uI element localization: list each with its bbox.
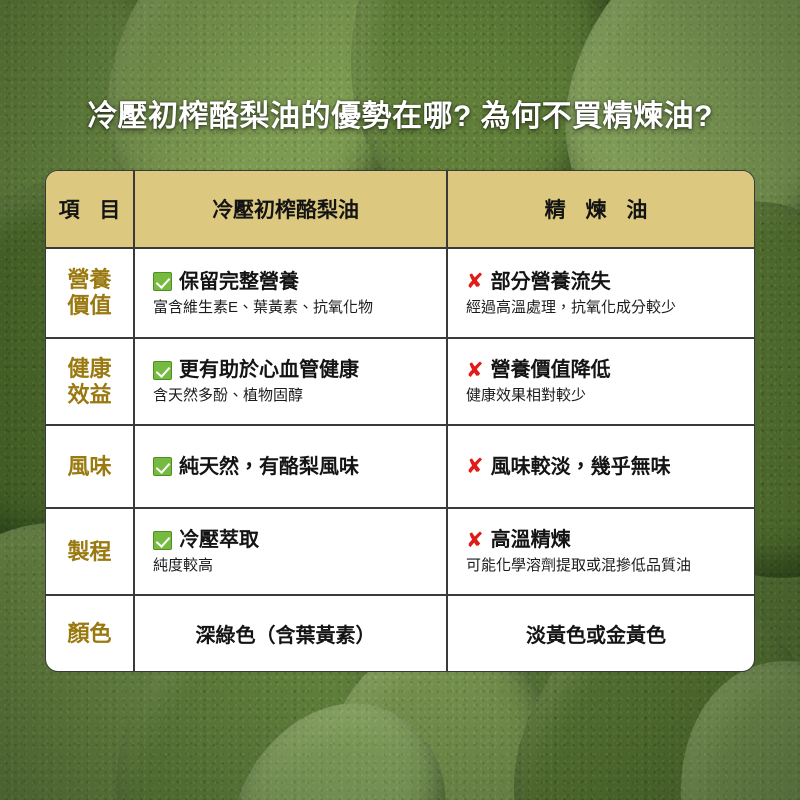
refined-cell: ✘ 部分營養流失 經過高溫處理，抗氧化成分較少 (448, 249, 754, 337)
cold-pressed-main: 更有助於心血管健康 (153, 358, 359, 382)
refined-main-text: 風味較淡，幾乎無味 (491, 455, 671, 479)
row-item-label-cell: 健康 效益 (46, 339, 135, 424)
header-label-item: 項 目 (52, 194, 128, 224)
refined-sub-text: 經過高溫處理，抗氧化成分較少 (466, 299, 676, 317)
page-title: 冷壓初榨酪梨油的優勢在哪? 為何不買精煉油? (0, 100, 800, 133)
check-icon (153, 457, 172, 476)
item-label: 顏色 (67, 621, 111, 647)
refined-main: ✘ 高溫精煉 (466, 528, 571, 552)
check-icon (153, 272, 172, 291)
cold-pressed-sub-text: 富含維生素E、葉黃素、抗氧化物 (153, 299, 373, 317)
refined-main-text: 營養價值降低 (491, 358, 611, 382)
item-label: 風味 (67, 454, 111, 480)
cold-pressed-sub-text: 含天然多酚、植物固醇 (153, 387, 303, 405)
cold-pressed-cell: 純天然，有酪梨風味 (135, 426, 448, 507)
row-item-label-cell: 顏色 (46, 596, 135, 671)
refined-sub-text: 可能化學溶劑提取或混摻低品質油 (466, 557, 691, 575)
row-item-label-cell: 製程 (46, 509, 135, 594)
refined-main-text: 淡黃色或金黃色 (448, 619, 744, 648)
table-row: 健康 效益 更有助於心血管健康 含天然多酚、植物固醇 ✘ 營養價值降低 健康效果… (46, 339, 754, 426)
cold-pressed-main: 冷壓萃取 (153, 528, 259, 552)
cold-pressed-main-text: 保留完整營養 (179, 270, 299, 294)
cold-pressed-main-text: 深綠色（含葉黃素） (135, 619, 436, 648)
cold-pressed-main-text: 更有助於心血管健康 (179, 358, 359, 382)
comparison-table: 項 目 冷壓初榨酪梨油 精 煉 油 營養 價值 保留完整營養 富含維生素E、葉黃… (45, 170, 755, 672)
row-item-label-cell: 營養 價值 (46, 249, 135, 337)
cold-pressed-cell: 保留完整營養 富含維生素E、葉黃素、抗氧化物 (135, 249, 448, 337)
cold-pressed-main-text: 冷壓萃取 (179, 528, 259, 552)
cold-pressed-cell: 深綠色（含葉黃素） (135, 596, 448, 671)
header-label-refined: 精 煉 油 (538, 194, 655, 224)
header-cell-refined: 精 煉 油 (448, 171, 754, 247)
cold-pressed-main: 純天然，有酪梨風味 (153, 455, 359, 479)
table-row: 製程 冷壓萃取 純度較高 ✘ 高溫精煉 可能化學溶劑提取或混摻低品質油 (46, 509, 754, 596)
cold-pressed-main-text: 純天然，有酪梨風味 (179, 455, 359, 479)
refined-main-text: 高溫精煉 (491, 528, 571, 552)
refined-main: ✘ 風味較淡，幾乎無味 (466, 455, 671, 479)
cold-pressed-sub-text: 純度較高 (153, 557, 213, 575)
check-icon (153, 531, 172, 550)
cold-pressed-main: 保留完整營養 (153, 270, 299, 294)
refined-main: ✘ 營養價值降低 (466, 358, 611, 382)
table-row: 營養 價值 保留完整營養 富含維生素E、葉黃素、抗氧化物 ✘ 部分營養流失 經過… (46, 249, 754, 339)
table-row: 風味 純天然，有酪梨風味 ✘ 風味較淡，幾乎無味 (46, 426, 754, 509)
cross-icon: ✘ (466, 530, 484, 551)
cross-icon: ✘ (466, 271, 484, 292)
header-label-cold-pressed: 冷壓初榨酪梨油 (212, 194, 359, 224)
table-header-row: 項 目 冷壓初榨酪梨油 精 煉 油 (46, 171, 754, 249)
table-row: 顏色 深綠色（含葉黃素） 淡黃色或金黃色 (46, 596, 754, 671)
cold-pressed-cell: 冷壓萃取 純度較高 (135, 509, 448, 594)
header-cell-item: 項 目 (46, 171, 135, 247)
cold-pressed-cell: 更有助於心血管健康 含天然多酚、植物固醇 (135, 339, 448, 424)
header-cell-cold-pressed: 冷壓初榨酪梨油 (135, 171, 448, 247)
refined-cell: 淡黃色或金黃色 (448, 596, 754, 671)
refined-main: ✘ 部分營養流失 (466, 270, 611, 294)
cross-icon: ✘ (466, 360, 484, 381)
refined-cell: ✘ 高溫精煉 可能化學溶劑提取或混摻低品質油 (448, 509, 754, 594)
refined-cell: ✘ 風味較淡，幾乎無味 (448, 426, 754, 507)
check-icon (153, 361, 172, 380)
item-label: 營養 價值 (67, 267, 111, 319)
refined-main-text: 部分營養流失 (491, 270, 611, 294)
refined-sub-text: 健康效果相對較少 (466, 387, 586, 405)
row-item-label-cell: 風味 (46, 426, 135, 507)
item-label: 健康 效益 (67, 356, 111, 408)
cross-icon: ✘ (466, 456, 484, 477)
refined-cell: ✘ 營養價值降低 健康效果相對較少 (448, 339, 754, 424)
item-label: 製程 (67, 539, 111, 565)
